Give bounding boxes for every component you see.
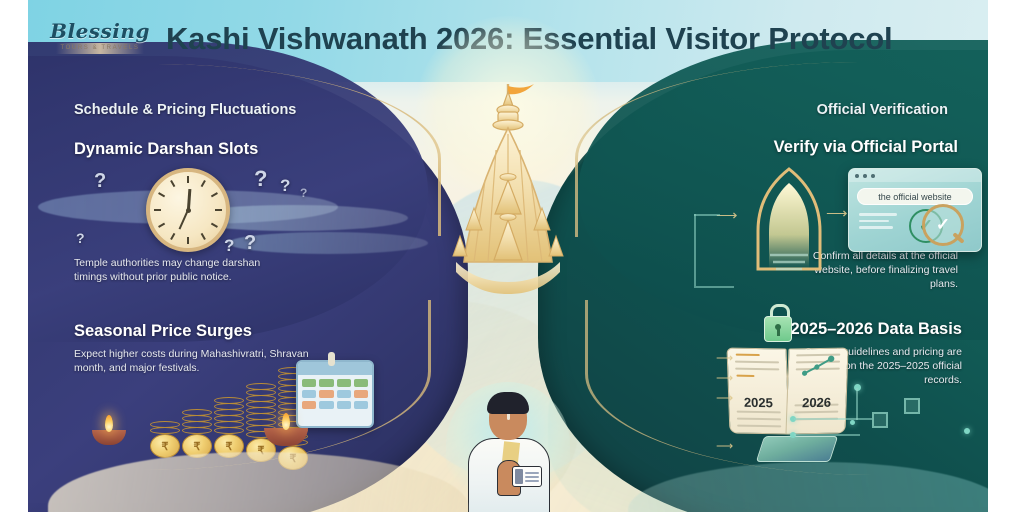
card-data-heading: 2025–2026 Data Basis bbox=[692, 320, 962, 339]
banner-official-verification-label: Official Verification bbox=[817, 102, 948, 118]
connector-wire bbox=[694, 286, 734, 288]
book-stand-icon bbox=[756, 436, 838, 462]
flow-arrow-icon: ⟶ bbox=[716, 440, 733, 452]
banner-schedule-pricing: Schedule & Pricing Fluctuations bbox=[74, 95, 296, 125]
padlock-icon bbox=[764, 316, 792, 342]
browser-dot bbox=[855, 174, 859, 178]
circuit-square bbox=[872, 412, 888, 428]
question-mark-icon: ? bbox=[76, 230, 85, 246]
question-mark-icon: ? bbox=[280, 176, 290, 196]
diya-flame-icon bbox=[282, 413, 290, 430]
question-mark-icon: ? bbox=[254, 166, 267, 192]
coin-stack: ₹ bbox=[214, 398, 244, 452]
browser-content-lines bbox=[859, 213, 897, 233]
brand-logo-subtitle: TOURS & TRAVELS bbox=[56, 43, 144, 54]
coin-stack: ₹ bbox=[150, 422, 180, 452]
circuit-node bbox=[850, 420, 855, 425]
question-mark-icon: ? bbox=[244, 232, 256, 255]
priest-namaste-icon bbox=[446, 386, 570, 512]
priest-hair bbox=[487, 392, 529, 414]
badge-photo bbox=[515, 469, 523, 484]
circuit-square bbox=[904, 398, 920, 414]
card-darshan-heading: Dynamic Darshan Slots bbox=[74, 140, 314, 159]
flow-arrow-icon: ⟶ bbox=[826, 206, 848, 221]
left-wave-3 bbox=[228, 232, 428, 254]
open-book-icon: 2025 2026 bbox=[728, 348, 848, 440]
book-page-right: 2026 bbox=[785, 348, 848, 435]
question-mark-icon: ? bbox=[94, 170, 106, 193]
temple-gateway-icon bbox=[746, 165, 832, 273]
connector-wire bbox=[694, 214, 720, 216]
infographic-canvas: Blessing TOURS & TRAVELS Kashi Vishwanat… bbox=[28, 0, 988, 512]
card-dynamic-darshan-slots: Dynamic Darshan Slots Temple authorities… bbox=[74, 140, 314, 159]
book-year-left: 2025 bbox=[729, 394, 788, 410]
connector-wire bbox=[694, 214, 696, 286]
card-verify-heading: Verify via Official Portal bbox=[698, 138, 958, 157]
banner-official-verification: Official Verification bbox=[817, 95, 948, 125]
card-darshan-body: Temple authorities may change darshan ti… bbox=[74, 256, 274, 284]
browser-address-bar[interactable]: the official website bbox=[857, 188, 973, 205]
browser-titlebar bbox=[849, 169, 981, 182]
flow-arrow-icon: ⟶ bbox=[716, 352, 733, 364]
card-pricing-heading: Seasonal Price Surges bbox=[74, 322, 324, 341]
connector-wire bbox=[794, 434, 860, 436]
clock-icon bbox=[146, 168, 230, 252]
infographic-root: Blessing TOURS & TRAVELS Kashi Vishwanat… bbox=[0, 0, 1024, 512]
brand-logo[interactable]: Blessing TOURS & TRAVELS bbox=[48, 17, 152, 61]
banner-schedule-pricing-label: Schedule & Pricing Fluctuations bbox=[74, 102, 296, 118]
circuit-node bbox=[964, 428, 970, 434]
browser-dot bbox=[871, 174, 875, 178]
question-mark-icon: ? bbox=[300, 186, 307, 200]
id-badge-icon bbox=[512, 466, 542, 487]
temple-shikhara-icon bbox=[430, 76, 586, 296]
brand-logo-script: Blessing bbox=[48, 19, 152, 43]
card-verify-official-portal: Verify via Official Portal Confirm all d… bbox=[698, 138, 958, 157]
coin-rupee-symbol: ₹ bbox=[150, 434, 180, 458]
book-page-left: 2025 bbox=[726, 348, 789, 435]
flow-arrow-icon: ⟶ bbox=[716, 392, 733, 404]
calendar-icon bbox=[296, 360, 374, 428]
book-year-right: 2026 bbox=[787, 394, 846, 410]
connector-wire bbox=[794, 418, 872, 420]
calendar-clip bbox=[328, 352, 335, 366]
badge-lines bbox=[525, 472, 539, 482]
diya-flame-icon bbox=[105, 415, 113, 432]
coin-stack: ₹ bbox=[182, 410, 212, 452]
browser-dot bbox=[863, 174, 867, 178]
question-mark-icon: ? bbox=[224, 236, 234, 256]
connector-wire bbox=[856, 388, 858, 420]
flow-arrow-icon: ⟶ bbox=[716, 372, 733, 384]
magnifier-check-icon: ✓ bbox=[936, 215, 950, 235]
